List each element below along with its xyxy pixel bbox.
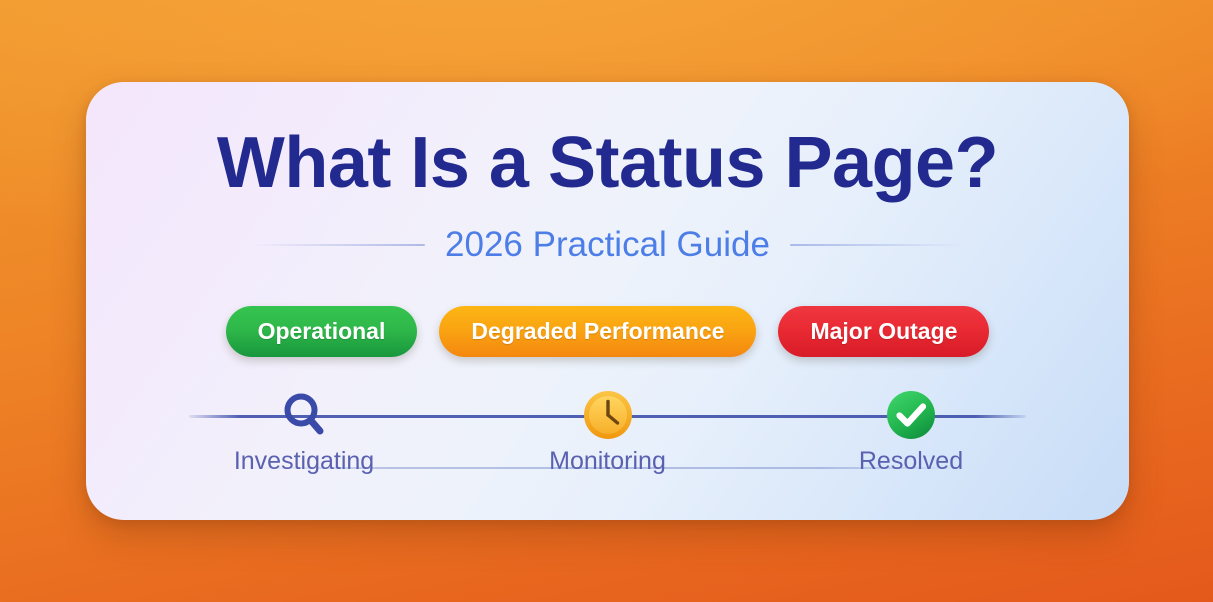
timeline-step-resolved-label: Resolved xyxy=(850,449,972,474)
subtitle-rule-left xyxy=(250,244,425,246)
status-badge-operational-label: Operational xyxy=(258,318,386,345)
magnifier-icon xyxy=(276,387,332,443)
timeline-step-resolved[interactable]: Resolved xyxy=(796,384,1026,474)
timeline-step-monitoring-label: Monitoring xyxy=(540,449,675,474)
timeline-steps: Investigating xyxy=(189,384,1026,474)
timeline-step-investigating[interactable]: Investigating xyxy=(189,384,419,474)
status-badge-operational[interactable]: Operational xyxy=(226,306,418,357)
incident-timeline: Investigating xyxy=(189,384,1026,494)
page-subtitle: 2026 Practical Guide xyxy=(445,227,770,262)
status-badge-degraded-performance[interactable]: Degraded Performance xyxy=(439,306,756,357)
timeline-step-monitoring[interactable]: Monitoring xyxy=(493,384,723,474)
subtitle-rule-right xyxy=(790,244,965,246)
clock-icon xyxy=(580,387,636,443)
page-title-wrap: What Is a Status Page? xyxy=(86,127,1129,199)
subtitle-row: 2026 Practical Guide xyxy=(86,227,1129,262)
page-background: What Is a Status Page? 2026 Practical Gu… xyxy=(0,0,1213,602)
status-badge-major-outage[interactable]: Major Outage xyxy=(778,306,989,357)
status-badge-degraded-performance-label: Degraded Performance xyxy=(471,318,724,345)
timeline-step-investigating-label: Investigating xyxy=(225,449,383,474)
page-title: What Is a Status Page? xyxy=(86,127,1129,199)
check-circle-icon xyxy=(883,387,939,443)
status-badge-group: Operational Degraded Performance Major O… xyxy=(86,306,1129,357)
status-page-card: What Is a Status Page? 2026 Practical Gu… xyxy=(86,82,1129,520)
status-badge-major-outage-label: Major Outage xyxy=(810,318,957,345)
